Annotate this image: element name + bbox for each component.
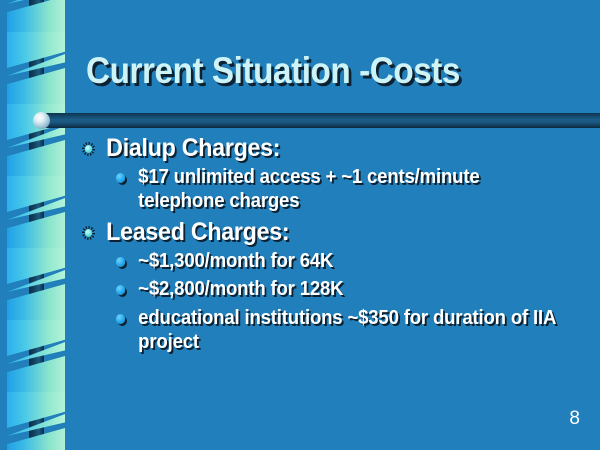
gear-core bbox=[85, 229, 92, 237]
presentation-slide: Current Situation -Costs Dialup Charges:… bbox=[0, 0, 600, 450]
list-item-text: Leased Charges: bbox=[106, 218, 289, 246]
list-item: Leased Charges: bbox=[82, 218, 556, 247]
list-item: educational institutions ~$350 for durat… bbox=[114, 306, 559, 355]
dot-bullet-icon bbox=[116, 285, 125, 295]
title-divider-rule bbox=[38, 113, 600, 128]
gear-core bbox=[85, 145, 92, 153]
dot-bullet-icon bbox=[116, 314, 125, 324]
divider-knob-icon bbox=[33, 112, 50, 129]
list-item: Dialup Charges: bbox=[82, 134, 556, 163]
list-item-text: $17 unlimited access + ~1 cents/minute t… bbox=[138, 166, 479, 212]
page-number: 8 bbox=[569, 409, 580, 428]
dot-bullet-icon bbox=[116, 257, 125, 267]
ribbon-band-lower bbox=[7, 0, 65, 32]
list-item: $17 unlimited access + ~1 cents/minute t… bbox=[114, 165, 559, 214]
ribbon-decoration bbox=[0, 0, 70, 450]
slide-title: Current Situation -Costs bbox=[86, 52, 460, 89]
list-item-text: ~$1,300/month for 64K bbox=[138, 250, 333, 272]
list-item: ~$2,800/month for 128K bbox=[114, 277, 559, 301]
ribbon-band-lower bbox=[7, 428, 65, 450]
ribbon-segment bbox=[0, 0, 70, 32]
dot-bullet-icon bbox=[116, 173, 125, 183]
slide-body-list: Dialup Charges: $17 unlimited access + ~… bbox=[82, 134, 592, 358]
list-item-text: ~$2,800/month for 128K bbox=[138, 278, 343, 300]
list-item-text: educational institutions ~$350 for durat… bbox=[138, 307, 555, 353]
gear-bullet-icon bbox=[82, 142, 95, 156]
list-item: ~$1,300/month for 64K bbox=[114, 249, 559, 273]
gear-bullet-icon bbox=[82, 226, 95, 240]
list-item-text: Dialup Charges: bbox=[106, 134, 280, 162]
